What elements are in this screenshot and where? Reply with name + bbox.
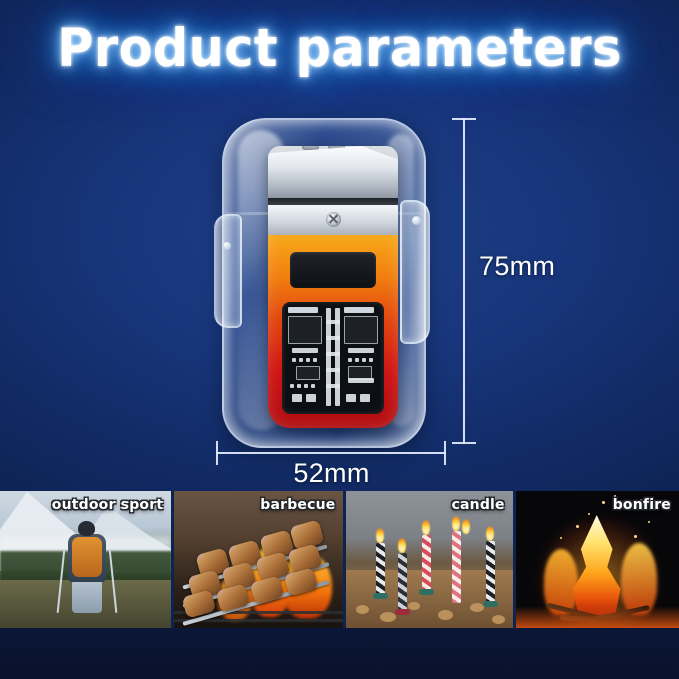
waterproof-case [222, 118, 426, 448]
usage-panel-candle: candle [346, 491, 512, 628]
case-latch-right [400, 200, 430, 344]
candle-holder [419, 589, 434, 595]
screw-icon [326, 212, 341, 227]
backpack [72, 537, 102, 577]
flame-shape [452, 516, 460, 531]
page-title: Product parameters [57, 16, 622, 82]
candle-holder [395, 609, 410, 615]
hiker-legs [72, 579, 102, 613]
product-parameters-page: Product parameters [0, 0, 679, 679]
lighter-cap [268, 146, 398, 198]
note-area: Note:The size and weight are measured ma… [0, 628, 679, 679]
usage-panel-label: barbecue [260, 497, 335, 513]
candle-stick [486, 541, 495, 603]
flame-shape [422, 520, 430, 535]
candle-stick [422, 535, 431, 591]
candle-holder [373, 593, 388, 599]
height-dimension-label: 75mm [479, 251, 555, 281]
cap-edge [268, 198, 398, 205]
flame-shape [621, 543, 657, 615]
circuit-board-window [282, 302, 384, 414]
usage-panel-label: candle [452, 497, 505, 513]
usage-panel-barbecue: barbecue [174, 491, 343, 628]
product-image [214, 118, 430, 444]
usage-panel-bonfire: bonfire [516, 491, 679, 628]
candle-stick [398, 553, 407, 611]
width-dimension-line [216, 452, 446, 454]
candle-stick [376, 543, 385, 595]
hiker-head [78, 521, 95, 536]
candle-stick [452, 531, 461, 603]
flame-shape [486, 526, 494, 541]
case-latch-left [214, 214, 242, 328]
usage-photo-strip: outdoor sport barbecue [0, 491, 679, 628]
lighter-body [268, 146, 398, 428]
upper-window [290, 252, 376, 288]
ember-bed [516, 606, 679, 628]
candle-holder [483, 601, 498, 607]
flame-shape [398, 538, 406, 553]
flame-shape [462, 519, 470, 534]
width-dimension-label: 52mm [0, 458, 679, 488]
usage-panel-label: bonfire [613, 497, 671, 513]
page-title-wrap: Product parameters [0, 16, 679, 82]
usage-panel-label: outdoor sport [52, 497, 163, 513]
height-dimension-line [463, 118, 465, 444]
flame-shape [376, 528, 384, 543]
usage-panel-outdoor-sport: outdoor sport [0, 491, 171, 628]
